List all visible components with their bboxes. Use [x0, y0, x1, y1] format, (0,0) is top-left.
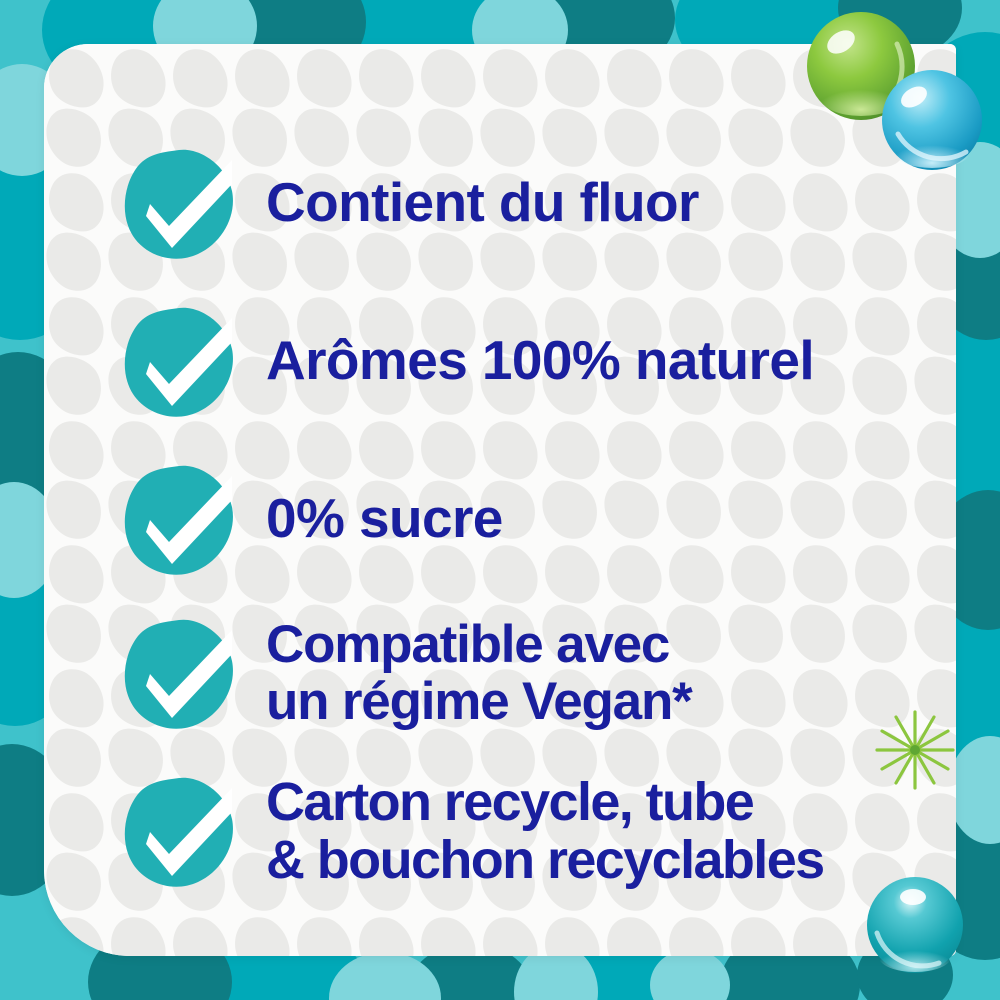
- feature-row-sucre: 0% sucre: [120, 460, 503, 578]
- feature-label: 0% sucre: [266, 489, 503, 548]
- feature-row-fluor: Contient du fluor: [120, 144, 699, 262]
- feature-list: Contient du fluor Arômes 100% naturel 0%…: [44, 44, 956, 956]
- feature-label: Carton recycle, tube & bouchon recyclabl…: [266, 773, 824, 890]
- feature-card: Contient du fluor Arômes 100% naturel 0%…: [44, 44, 956, 956]
- feature-label: Arômes 100% naturel: [266, 331, 814, 390]
- check-badge-icon: [120, 144, 238, 262]
- feature-row-recycle: Carton recycle, tube & bouchon recyclabl…: [120, 772, 824, 890]
- feature-row-vegan: Compatible avec un régime Vegan*: [120, 614, 692, 732]
- feature-label: Compatible avec un régime Vegan*: [266, 616, 692, 730]
- check-badge-icon: [120, 460, 238, 578]
- teal-bubble: [865, 875, 965, 975]
- feature-row-aromes: Arômes 100% naturel: [120, 302, 814, 420]
- check-badge-icon: [120, 302, 238, 420]
- green-sparkle-icon: [869, 704, 956, 796]
- check-badge-icon: [120, 614, 238, 732]
- cyan-bubble: [880, 68, 984, 172]
- check-badge-icon: [120, 772, 238, 890]
- feature-label: Contient du fluor: [266, 173, 699, 232]
